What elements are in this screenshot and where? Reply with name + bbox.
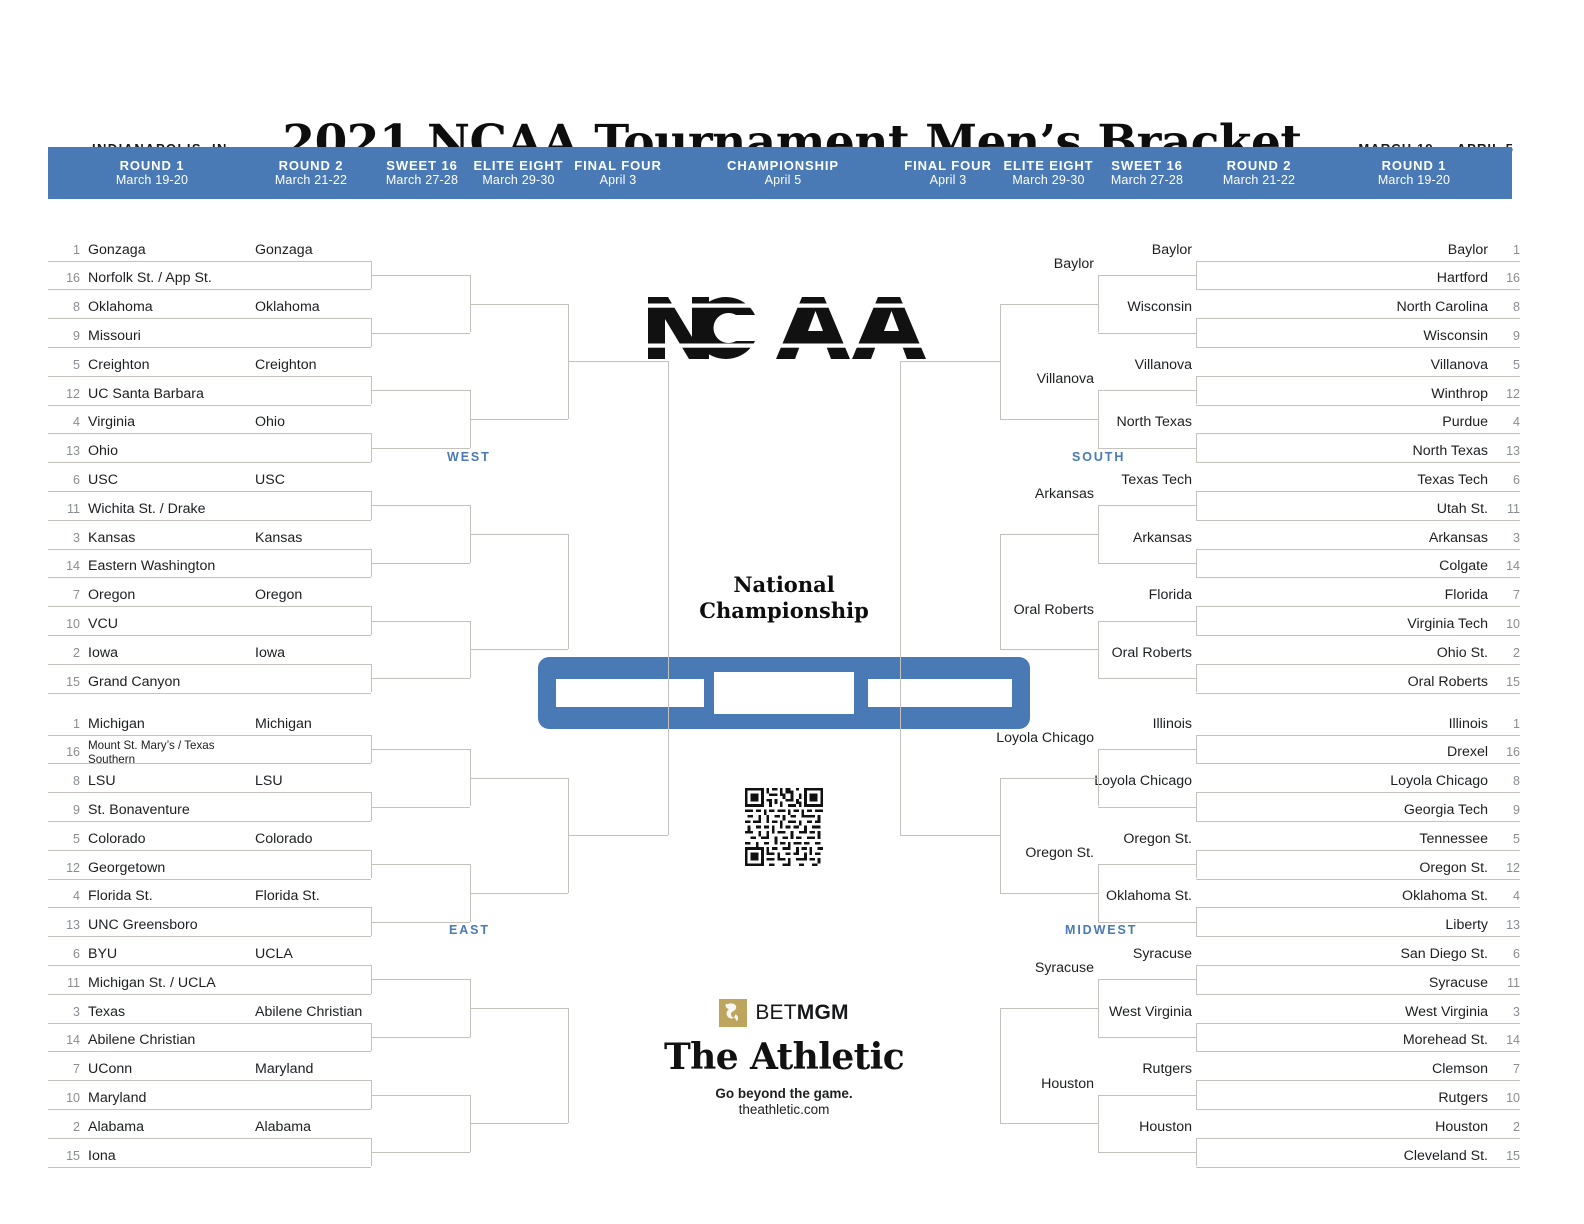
south-r1-team-9[interactable]: Utah St. (1317, 501, 1488, 517)
west-r1-team-13[interactable]: VCU (88, 616, 118, 632)
qr-code-icon[interactable] (745, 788, 823, 866)
midwest-r1-team-10[interactable]: West Virginia (1317, 1004, 1488, 1020)
south-r2-winner-1[interactable]: Wisconsin (1072, 299, 1192, 315)
south-r2-winner-7[interactable]: Oral Roberts (1072, 645, 1192, 661)
west-r3-bot-3 (371, 678, 470, 679)
west-r1-team-15[interactable]: Grand Canyon (88, 674, 180, 690)
east-r1-underline-5 (48, 879, 251, 880)
south-r1-seed-1: 16 (1498, 271, 1520, 285)
east-r1-seed-11: 14 (58, 1033, 80, 1047)
south-r2-bot-2 (1196, 405, 1317, 406)
midwest-r3-bot-0 (1098, 807, 1196, 808)
east-r3-bot-0 (371, 807, 470, 808)
championship-slot-right[interactable] (868, 679, 1012, 707)
south-r1-seed-12: 7 (1498, 588, 1520, 602)
south-r2-join-6 (1196, 606, 1197, 635)
south-r3-join-2 (1098, 505, 1099, 563)
east-r1-team-7[interactable]: UNC Greensboro (88, 917, 198, 933)
west-r1-underline-13 (48, 635, 251, 636)
south-r2-join-0 (1196, 261, 1197, 290)
south-r1-seed-2: 8 (1498, 300, 1520, 314)
midwest-r1-seed-11: 14 (1498, 1033, 1520, 1047)
east-r2-winner-1[interactable]: LSU (255, 773, 283, 789)
midwest-r4-top-1 (1000, 1008, 1098, 1009)
south-r2-bot-6 (1196, 635, 1317, 636)
midwest-r1-team-7[interactable]: Liberty (1317, 917, 1488, 933)
south-r1-underline-15 (1317, 693, 1520, 694)
east-r2-bot-2 (251, 879, 371, 880)
south-r1-underline-6 (1317, 433, 1520, 434)
south-r1-team-1[interactable]: Hartford (1317, 270, 1488, 286)
west-r1-team-3[interactable]: Missouri (88, 328, 141, 344)
east-r1-underline-3 (48, 821, 251, 822)
east-r2-bot-7 (251, 1167, 371, 1168)
east-r1-underline-6 (48, 907, 251, 908)
midwest-r2-bot-1 (1196, 821, 1317, 822)
west-r2-top-7 (251, 664, 371, 665)
east-r1-underline-15 (48, 1167, 251, 1168)
south-r2-join-1 (1196, 318, 1197, 347)
midwest-r1-underline-11 (1317, 1051, 1520, 1052)
midwest-r1-seed-4: 5 (1498, 832, 1520, 846)
west-r2-winner-2[interactable]: Creighton (255, 357, 317, 373)
west-r1-seed-15: 15 (58, 675, 80, 689)
south-r2-join-4 (1196, 491, 1197, 520)
east-r2-bot-1 (251, 821, 371, 822)
south-r3-join-1 (1098, 390, 1099, 448)
midwest-r2-top-1 (1196, 792, 1317, 793)
south-r1-seed-3: 9 (1498, 329, 1520, 343)
region-label-west: WEST (447, 450, 491, 464)
east-r1-seed-1: 16 (58, 745, 80, 759)
east-r1-team-15[interactable]: Iona (88, 1148, 116, 1164)
west-r2-winner-3[interactable]: Ohio (255, 414, 285, 430)
east-r2-bot-0 (251, 763, 371, 764)
south-r1-team-14[interactable]: Ohio St. (1317, 645, 1488, 661)
midwest-r1-team-5[interactable]: Oregon St. (1317, 860, 1488, 876)
midwest-r1-underline-0 (1317, 735, 1520, 736)
west-r1-underline-10 (48, 549, 251, 550)
east-r1-team-10[interactable]: Texas (88, 1004, 125, 1020)
betmgm-logo: BETMGM (632, 998, 936, 1028)
midwest-r1-team-14[interactable]: Houston (1317, 1119, 1488, 1135)
midwest-r1-team-8[interactable]: San Diego St. (1317, 946, 1488, 962)
midwest-r1-seed-3: 9 (1498, 803, 1520, 817)
midwest-r1-team-12[interactable]: Clemson (1317, 1061, 1488, 1077)
east-r4-bot-0 (470, 893, 568, 894)
west-r1-team-10[interactable]: Kansas (88, 530, 135, 546)
south-r1-underline-11 (1317, 577, 1520, 578)
betmgm-lion-icon (719, 999, 747, 1027)
east-r2-winner-5[interactable]: Abilene Christian (255, 1004, 362, 1020)
midwest-r2-winner-1[interactable]: Loyola Chicago (1072, 773, 1192, 789)
west-r2-bot-1 (251, 347, 371, 348)
south-r2-winner-5[interactable]: Arkansas (1072, 530, 1192, 546)
west-r2-bot-6 (251, 635, 371, 636)
region-label-midwest: MIDWEST (1065, 923, 1137, 937)
south-r3-bot-0 (1098, 333, 1196, 334)
east-r2-bot-6 (251, 1109, 371, 1110)
west-r2-top-4 (251, 491, 371, 492)
midwest-r1-seed-6: 4 (1498, 889, 1520, 903)
south-r1-team-2[interactable]: North Carolina (1317, 299, 1488, 315)
east-r4-top-1 (470, 1008, 568, 1009)
west-r1-seed-0: 1 (58, 243, 80, 257)
west-r2-winner-1[interactable]: Oklahoma (255, 299, 320, 315)
midwest-r1-seed-9: 11 (1498, 976, 1520, 990)
midwest-r2-winner-5[interactable]: West Virginia (1072, 1004, 1192, 1020)
west-r2-winner-7[interactable]: Iowa (255, 645, 285, 661)
east-r2-winner-7[interactable]: Alabama (255, 1119, 311, 1135)
south-r2-top-4 (1196, 491, 1317, 492)
natl-champ-line1: National (642, 572, 926, 598)
midwest-r3-top-2 (1098, 979, 1196, 980)
south-r1-team-7[interactable]: North Texas (1317, 443, 1488, 459)
east-r2-top-6 (251, 1080, 371, 1081)
midwest-r3-bot-2 (1098, 1037, 1196, 1038)
west-r1-underline-8 (48, 491, 251, 492)
west-r1-underline-1 (48, 289, 251, 290)
west-r1-underline-11 (48, 577, 251, 578)
championship-slot-trophy[interactable] (714, 672, 854, 714)
midwest-r1-team-9[interactable]: Syracuse (1317, 975, 1488, 991)
south-r2-join-2 (1196, 376, 1197, 405)
south-r1-team-0[interactable]: Baylor (1317, 242, 1488, 258)
east-r1-team-13[interactable]: Maryland (88, 1090, 146, 1106)
south-r1-team-3[interactable]: Wisconsin (1317, 328, 1488, 344)
west-r1-underline-2 (48, 318, 251, 319)
south-r1-underline-10 (1317, 549, 1520, 550)
midwest-r1-seed-5: 12 (1498, 861, 1520, 875)
south-r1-team-6[interactable]: Purdue (1317, 414, 1488, 430)
midwest-r1-underline-5 (1317, 879, 1520, 880)
south-r1-underline-4 (1317, 376, 1520, 377)
east-r2-top-3 (251, 907, 371, 908)
west-r1-seed-12: 7 (58, 588, 80, 602)
south-r1-team-11[interactable]: Colgate (1317, 558, 1488, 574)
midwest-r2-join-7 (1196, 1138, 1197, 1167)
west-r1-team-0[interactable]: Gonzaga (88, 242, 146, 258)
east-r1-underline-0 (48, 735, 251, 736)
east-r2-winner-6[interactable]: Maryland (255, 1061, 313, 1077)
west-r2-winner-4[interactable]: USC (255, 472, 285, 488)
midwest-r1-team-13[interactable]: Rutgers (1317, 1090, 1488, 1106)
west-r2-top-5 (251, 549, 371, 550)
midwest-r3-bot-3 (1098, 1152, 1196, 1153)
midwest-r2-winner-3[interactable]: Oklahoma St. (1072, 888, 1192, 904)
west-r3-bot-1 (371, 448, 470, 449)
west-r1-team-9[interactable]: Wichita St. / Drake (88, 501, 205, 517)
midwest-r3-top-0 (1098, 749, 1196, 750)
midwest-r1-seed-0: 1 (1498, 717, 1520, 731)
west-r1-seed-9: 11 (58, 502, 80, 516)
midwest-r1-underline-14 (1317, 1138, 1520, 1139)
south-r2-bot-0 (1196, 289, 1317, 290)
midwest-r3-winner-3[interactable]: Houston (974, 1076, 1094, 1092)
west-r1-underline-15 (48, 693, 251, 694)
midwest-r3-winner-1[interactable]: Oregon St. (974, 845, 1094, 861)
west-r1-team-1[interactable]: Norfolk St. / App St. (88, 270, 212, 286)
west-r1-underline-14 (48, 664, 251, 665)
west-r1-team-12[interactable]: Oregon (88, 587, 135, 603)
east-r1-seed-10: 3 (58, 1005, 80, 1019)
east-r1-seed-3: 9 (58, 803, 80, 817)
midwest-r3-winner-0[interactable]: Loyola Chicago (974, 730, 1094, 746)
championship-slot-left[interactable] (556, 679, 704, 707)
east-r1-seed-2: 8 (58, 774, 80, 788)
south-r1-seed-0: 1 (1498, 243, 1520, 257)
west-r2-top-3 (251, 433, 371, 434)
midwest-r1-team-2[interactable]: Loyola Chicago (1317, 773, 1488, 789)
south-r4-bot-1 (1000, 649, 1098, 650)
south-r2-bot-7 (1196, 693, 1317, 694)
east-r3-top-3 (371, 1095, 470, 1096)
midwest-r1-seed-7: 13 (1498, 918, 1520, 932)
midwest-r1-team-3[interactable]: Georgia Tech (1317, 802, 1488, 818)
west-r1-team-6[interactable]: Virginia (88, 414, 135, 430)
midwest-r3-winner-2[interactable]: Syracuse (974, 960, 1094, 976)
east-r4-top-0 (470, 778, 568, 779)
east-r1-team-11[interactable]: Abilene Christian (88, 1032, 195, 1048)
final-four-left-join (668, 361, 669, 835)
east-r1-team-14[interactable]: Alabama (88, 1119, 144, 1135)
east-r1-seed-4: 5 (58, 832, 80, 846)
east-r2-winner-0[interactable]: Michigan (255, 716, 312, 732)
midwest-r3-join-3 (1098, 1095, 1099, 1153)
midwest-r2-bot-0 (1196, 763, 1317, 764)
east-r2-winner-3[interactable]: Florida St. (255, 888, 320, 904)
south-r4-join-1 (1000, 534, 1001, 649)
east-r2-winner-2[interactable]: Colorado (255, 831, 313, 847)
south-r1-team-4[interactable]: Villanova (1317, 357, 1488, 373)
west-r1-seed-5: 12 (58, 387, 80, 401)
midwest-r1-seed-14: 2 (1498, 1120, 1520, 1134)
midwest-r1-team-15[interactable]: Cleveland St. (1317, 1148, 1488, 1164)
south-r2-top-6 (1196, 606, 1317, 607)
south-r2-bot-1 (1196, 347, 1317, 348)
east-r1-seed-12: 7 (58, 1062, 80, 1076)
midwest-r1-seed-12: 7 (1498, 1062, 1520, 1076)
betmgm-bet-text: BET (755, 1001, 796, 1024)
midwest-r4-bot-0 (1000, 893, 1098, 894)
south-r2-top-1 (1196, 318, 1317, 319)
midwest-r1-team-1[interactable]: Drexel (1317, 744, 1488, 760)
east-r2-top-1 (251, 792, 371, 793)
midwest-r4-join-1 (1000, 1008, 1001, 1123)
bracket-canvas: National Championship (0, 0, 1584, 1224)
championship-slot-container[interactable] (538, 657, 1030, 729)
east-r1-team-6[interactable]: Florida St. (88, 888, 153, 904)
midwest-r2-top-4 (1196, 965, 1317, 966)
midwest-r2-top-2 (1196, 850, 1317, 851)
south-r2-top-2 (1196, 376, 1317, 377)
midwest-r2-bot-2 (1196, 879, 1317, 880)
west-f4-stub (568, 361, 668, 362)
midwest-r1-underline-1 (1317, 763, 1520, 764)
west-r2-bot-5 (251, 577, 371, 578)
midwest-r1-seed-13: 10 (1498, 1091, 1520, 1105)
south-r1-underline-7 (1317, 462, 1520, 463)
south-r2-join-7 (1196, 664, 1197, 693)
east-r1-seed-7: 13 (58, 918, 80, 932)
west-r1-underline-3 (48, 347, 251, 348)
midwest-r1-underline-13 (1317, 1109, 1520, 1110)
south-r1-underline-0 (1317, 261, 1520, 262)
east-r1-seed-0: 1 (58, 717, 80, 731)
west-r1-team-11[interactable]: Eastern Washington (88, 558, 215, 574)
south-r1-underline-3 (1317, 347, 1520, 348)
south-f4-stub (900, 361, 1000, 362)
midwest-r3-top-1 (1098, 864, 1196, 865)
south-r1-seed-6: 4 (1498, 415, 1520, 429)
west-r4-join-1 (568, 534, 569, 649)
south-r1-underline-13 (1317, 635, 1520, 636)
south-r3-winner-3[interactable]: Oral Roberts (974, 602, 1094, 618)
west-r2-bot-4 (251, 520, 371, 521)
south-r1-team-8[interactable]: Texas Tech (1317, 472, 1488, 488)
south-r1-underline-1 (1317, 289, 1520, 290)
east-r1-underline-2 (48, 792, 251, 793)
east-r1-team-1[interactable]: Mount St. Mary’s / Texas Southern (88, 739, 258, 766)
east-r2-top-0 (251, 735, 371, 736)
west-r4-bot-0 (470, 419, 568, 420)
region-label-south: SOUTH (1072, 450, 1125, 464)
east-r1-underline-12 (48, 1080, 251, 1081)
west-r3-top-2 (371, 505, 470, 506)
midwest-r3-join-0 (1098, 749, 1099, 807)
west-r1-underline-4 (48, 376, 251, 377)
west-r1-seed-4: 5 (58, 358, 80, 372)
west-r4-bot-1 (470, 649, 568, 650)
south-r1-seed-4: 5 (1498, 358, 1520, 372)
south-r2-top-3 (1196, 433, 1317, 434)
south-r3-winner-2[interactable]: Arkansas (974, 486, 1094, 502)
south-r1-team-5[interactable]: Winthrop (1317, 386, 1488, 402)
east-r1-team-12[interactable]: UConn (88, 1061, 132, 1077)
west-r1-underline-5 (48, 405, 251, 406)
east-r1-team-5[interactable]: Georgetown (88, 860, 165, 876)
west-r2-winner-0[interactable]: Gonzaga (255, 242, 313, 258)
west-r2-winner-5[interactable]: Kansas (255, 530, 302, 546)
east-r1-team-9[interactable]: Michigan St. / UCLA (88, 975, 216, 991)
midwest-r1-underline-9 (1317, 994, 1520, 995)
west-r3-top-3 (371, 621, 470, 622)
midwest-r1-seed-2: 8 (1498, 774, 1520, 788)
west-r3-top-0 (371, 275, 470, 276)
east-r2-top-4 (251, 965, 371, 966)
midwest-r1-seed-15: 15 (1498, 1149, 1520, 1163)
east-r4-join-1 (568, 1008, 569, 1123)
final-four-right-join (900, 361, 901, 835)
east-r1-team-2[interactable]: LSU (88, 773, 116, 789)
south-r3-winner-0[interactable]: Baylor (974, 256, 1094, 272)
south-r3-top-2 (1098, 505, 1196, 506)
west-r1-seed-3: 9 (58, 329, 80, 343)
midwest-r1-underline-7 (1317, 936, 1520, 937)
east-r2-winner-4[interactable]: UCLA (255, 946, 293, 962)
east-r1-seed-6: 4 (58, 889, 80, 903)
west-r1-team-4[interactable]: Creighton (88, 357, 150, 373)
midwest-r2-join-3 (1196, 907, 1197, 936)
east-f4-stub (568, 835, 668, 836)
south-r1-seed-5: 12 (1498, 387, 1520, 401)
midwest-r1-underline-15 (1317, 1167, 1520, 1168)
south-r2-top-0 (1196, 261, 1317, 262)
midwest-r2-bot-6 (1196, 1109, 1317, 1110)
west-r1-seed-6: 4 (58, 415, 80, 429)
east-r1-underline-9 (48, 994, 251, 995)
south-r1-team-15[interactable]: Oral Roberts (1317, 674, 1488, 690)
midwest-r1-underline-6 (1317, 907, 1520, 908)
south-r1-team-13[interactable]: Virginia Tech (1317, 616, 1488, 632)
midwest-r2-join-0 (1196, 735, 1197, 764)
midwest-r4-bot-1 (1000, 1123, 1098, 1124)
midwest-r1-team-0[interactable]: Illinois (1317, 716, 1488, 732)
south-r2-winner-3[interactable]: North Texas (1072, 414, 1192, 430)
south-r3-top-3 (1098, 621, 1196, 622)
west-r4-top-1 (470, 534, 568, 535)
west-r1-underline-6 (48, 433, 251, 434)
south-r1-seed-10: 3 (1498, 531, 1520, 545)
west-r4-top-0 (470, 304, 568, 305)
south-r3-winner-1[interactable]: Villanova (974, 371, 1094, 387)
midwest-r1-seed-10: 3 (1498, 1005, 1520, 1019)
south-r1-underline-2 (1317, 318, 1520, 319)
east-r2-top-5 (251, 1023, 371, 1024)
east-r1-team-4[interactable]: Colorado (88, 831, 146, 847)
east-r4-bot-1 (470, 1123, 568, 1124)
midwest-r2-top-3 (1196, 907, 1317, 908)
midwest-r1-team-11[interactable]: Morehead St. (1317, 1032, 1488, 1048)
west-r1-seed-7: 13 (58, 444, 80, 458)
midwest-r1-underline-2 (1317, 792, 1520, 793)
south-r2-join-5 (1196, 549, 1197, 578)
east-r1-team-0[interactable]: Michigan (88, 716, 145, 732)
west-r2-top-2 (251, 376, 371, 377)
west-r1-team-8[interactable]: USC (88, 472, 118, 488)
west-r1-team-14[interactable]: Iowa (88, 645, 118, 661)
east-r1-team-3[interactable]: St. Bonaventure (88, 802, 190, 818)
east-r3-bot-2 (371, 1037, 470, 1038)
midwest-r1-underline-8 (1317, 965, 1520, 966)
south-r1-seed-9: 11 (1498, 502, 1520, 516)
midwest-r1-team-4[interactable]: Tennessee (1317, 831, 1488, 847)
west-r2-winner-6[interactable]: Oregon (255, 587, 302, 603)
west-r3-bot-2 (371, 563, 470, 564)
east-r1-underline-4 (48, 850, 251, 851)
midwest-r1-team-6[interactable]: Oklahoma St. (1317, 888, 1488, 904)
south-r2-top-7 (1196, 664, 1317, 665)
east-r3-top-0 (371, 749, 470, 750)
midwest-r1-seed-8: 6 (1498, 947, 1520, 961)
east-r1-team-8[interactable]: BYU (88, 946, 117, 962)
west-r1-team-2[interactable]: Oklahoma (88, 299, 153, 315)
west-r1-seed-2: 8 (58, 300, 80, 314)
midwest-r2-winner-7[interactable]: Houston (1072, 1119, 1192, 1135)
south-r1-underline-14 (1317, 664, 1520, 665)
west-r1-team-5[interactable]: UC Santa Barbara (88, 386, 204, 402)
south-r1-team-12[interactable]: Florida (1317, 587, 1488, 603)
west-r1-team-7[interactable]: Ohio (88, 443, 118, 459)
south-r1-team-10[interactable]: Arkansas (1317, 530, 1488, 546)
south-r1-underline-8 (1317, 491, 1520, 492)
midwest-r3-join-2 (1098, 979, 1099, 1037)
midwest-f4-stub (900, 835, 1000, 836)
east-r3-top-2 (371, 979, 470, 980)
west-r1-seed-11: 14 (58, 559, 80, 573)
west-r2-bot-3 (251, 462, 371, 463)
south-r1-seed-8: 6 (1498, 473, 1520, 487)
